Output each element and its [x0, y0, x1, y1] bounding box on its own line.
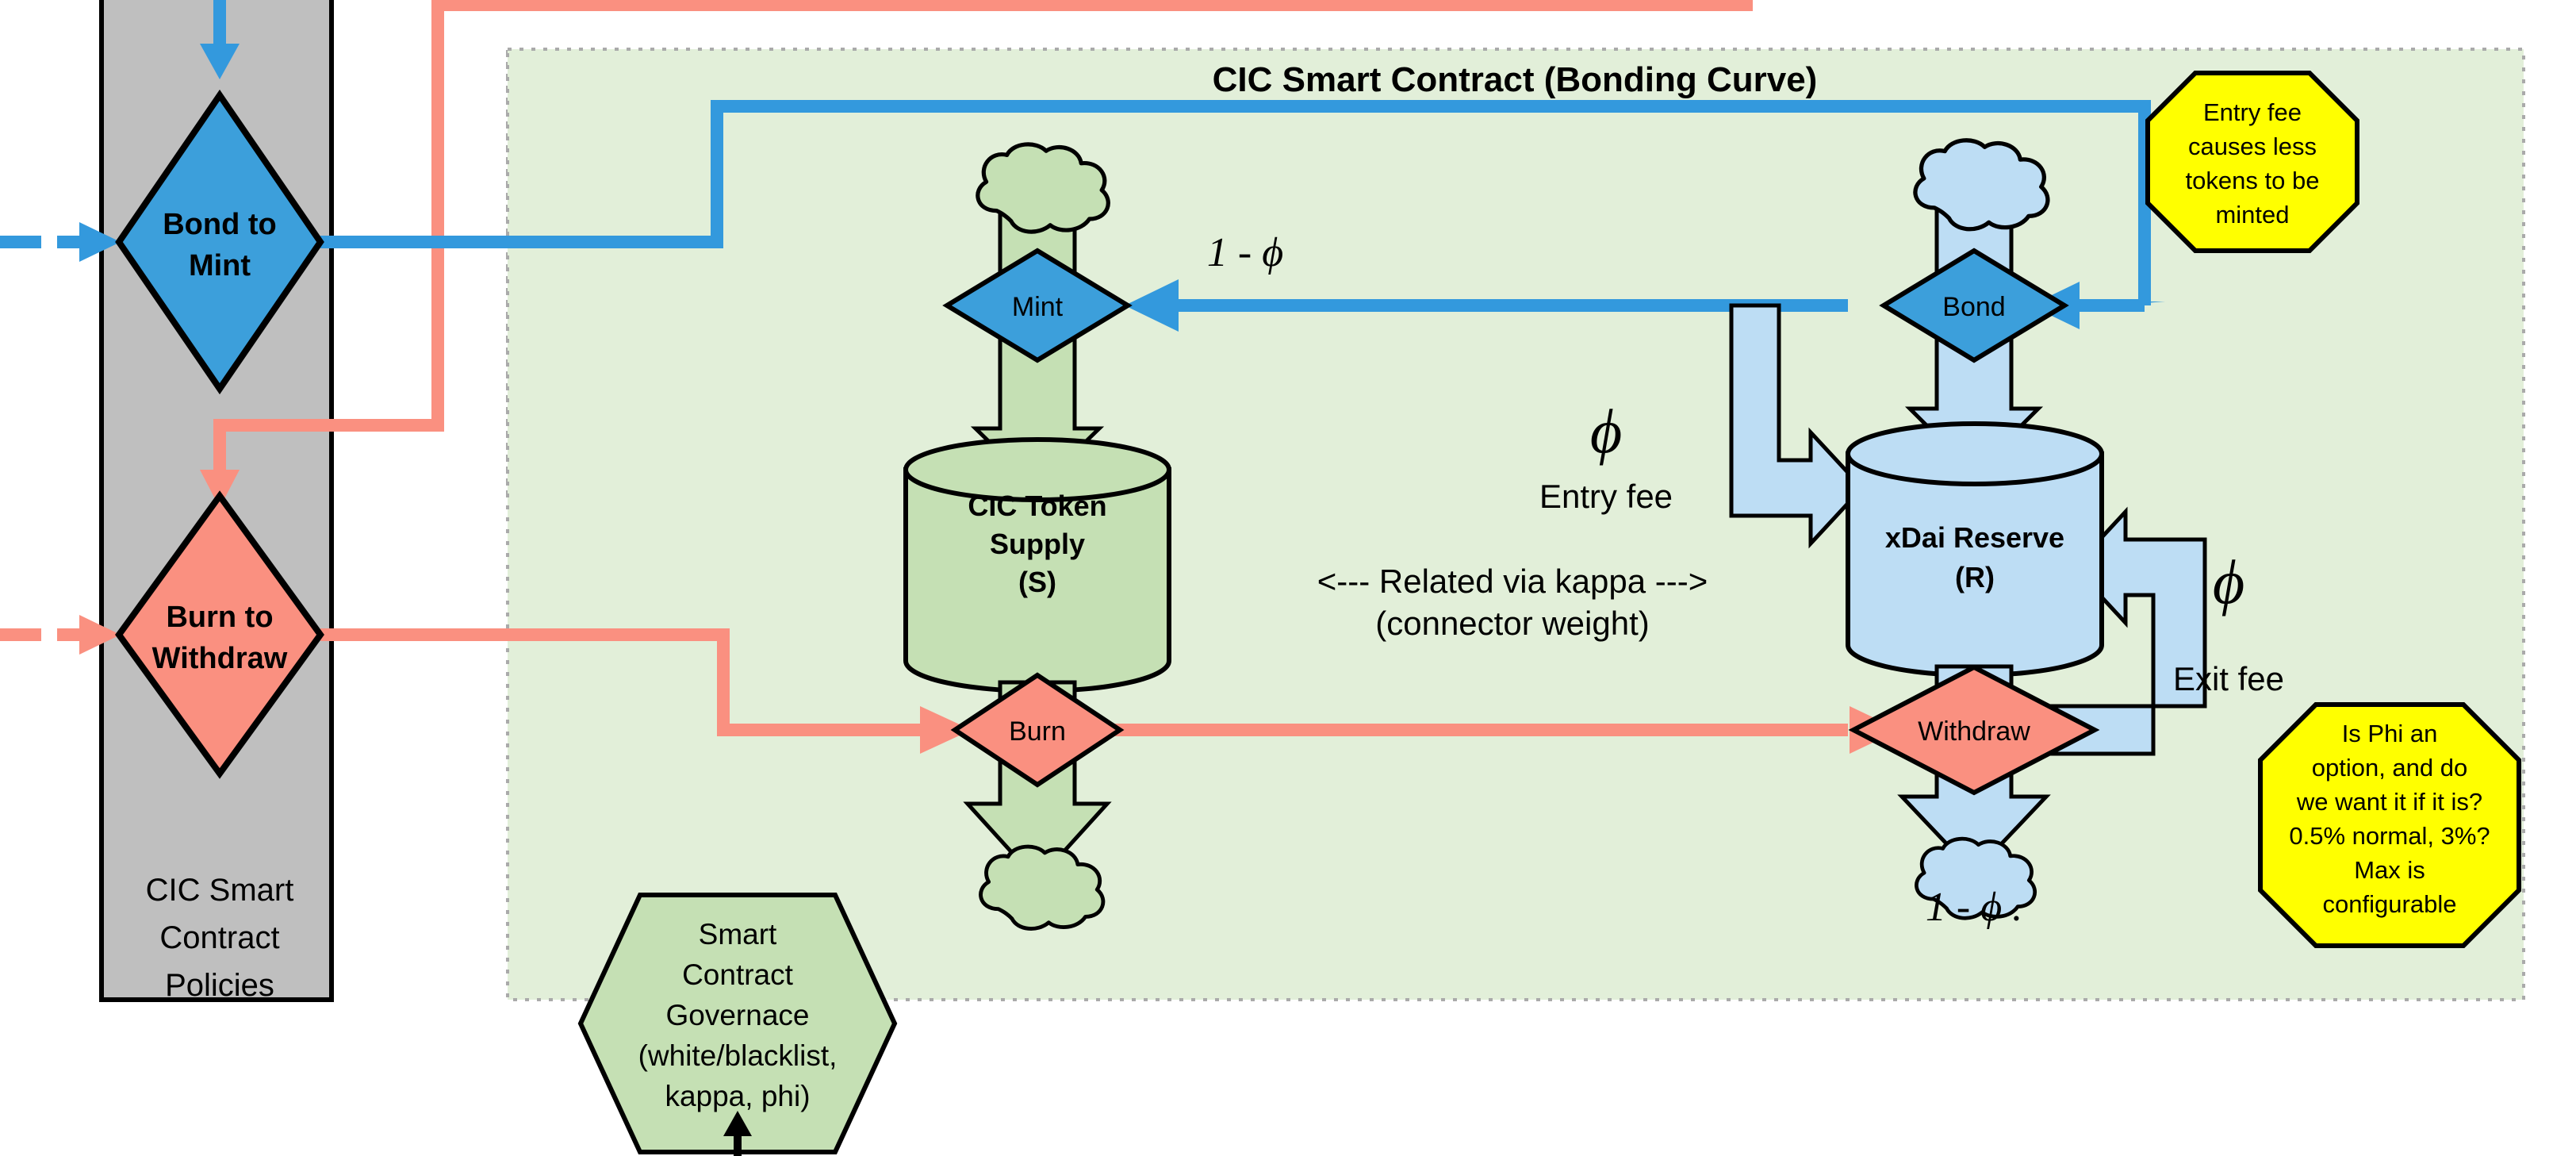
- governance-line5: kappa, phi): [665, 1080, 810, 1112]
- entry-fee-label: Entry fee: [1539, 478, 1673, 515]
- burn-to-withdraw-label-line2: Withdraw: [152, 642, 288, 675]
- reserve-line1: xDai Reserve: [1885, 521, 2064, 554]
- governance-line4: (white/blacklist,: [638, 1039, 838, 1072]
- policies-caption-line2: Contract: [159, 920, 279, 955]
- entry-fee-note-line2: causes less: [2188, 132, 2317, 160]
- bond-to-mint-label-line1: Bond to: [163, 208, 277, 241]
- token-supply-line2: Supply: [990, 528, 1085, 560]
- reserve-line2: (R): [1955, 561, 1995, 593]
- governance-line2: Contract: [682, 958, 794, 991]
- governance-line3: Governace: [666, 999, 810, 1031]
- mint-label: Mint: [1012, 292, 1064, 322]
- withdraw-label: Withdraw: [1918, 716, 2030, 747]
- entry-fee-symbol: ϕ: [1590, 397, 1622, 466]
- bond-to-mint-label-line2: Mint: [189, 249, 251, 282]
- phi-option-note-line4: 0.5% normal, 3%?: [2289, 822, 2490, 850]
- diagram-canvas: CIC Smart Contract (Bonding Curve) Bond …: [0, 0, 2576, 1156]
- phi-option-note-line2: option, and do: [2312, 754, 2468, 782]
- phi-option-note-line6: configurable: [2323, 890, 2457, 918]
- entry-fee-note-line1: Entry fee: [2203, 98, 2302, 126]
- one-minus-phi-withdraw-label: 1 - ϕ .: [1926, 885, 2022, 930]
- policies-caption-line3: Policies: [165, 968, 274, 1003]
- token-supply-line3: (S): [1018, 566, 1056, 598]
- phi-option-note-line5: Max is: [2354, 856, 2425, 884]
- kappa-relation-line1: <--- Related via kappa --->: [1317, 563, 1708, 600]
- entry-fee-note-line4: minted: [2215, 201, 2289, 229]
- token-supply-line1: CIC Token: [968, 490, 1106, 522]
- exit-fee-label: Exit fee: [2173, 660, 2284, 697]
- phi-option-note-line1: Is Phi an: [2342, 720, 2438, 747]
- governance-line1: Smart: [699, 918, 777, 951]
- bond-label: Bond: [1942, 292, 2005, 322]
- exit-fee-symbol: ϕ: [2213, 547, 2244, 616]
- burn-to-withdraw-label-line1: Burn to: [166, 601, 273, 634]
- entry-fee-note-line3: tokens to be: [2186, 167, 2320, 194]
- phi-option-note-line3: we want it if it is?: [2296, 788, 2482, 816]
- burn-label: Burn: [1009, 716, 1066, 747]
- kappa-relation-line2: (connector weight): [1375, 605, 1650, 642]
- one-minus-phi-mint-label: 1 - ϕ: [1207, 230, 1283, 275]
- policies-caption-line1: CIC Smart: [146, 873, 294, 908]
- panel-title: CIC Smart Contract (Bonding Curve): [1213, 60, 1818, 99]
